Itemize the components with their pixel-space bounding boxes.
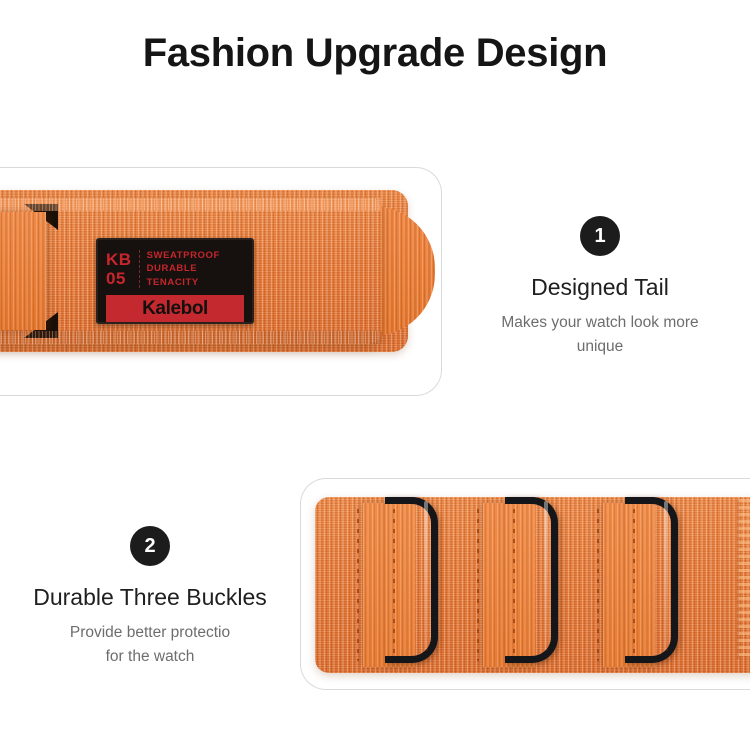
stitch-line-5 (597, 509, 599, 661)
strap-edge-highlight-top (0, 198, 382, 211)
strap-side-seam (737, 499, 750, 659)
label-claims: SWEATPROOF DURABLE TENACITY (140, 249, 220, 290)
brand-label-tag: KB 05 SWEATPROOF DURABLE TENACITY Kalebo… (96, 238, 254, 324)
feature-number-badge-1: 1 (580, 216, 620, 256)
label-claim-tenacity: TENACITY (147, 276, 220, 290)
label-top-row: KB 05 SWEATPROOF DURABLE TENACITY (106, 247, 244, 291)
feature-block-three-buckles: 2 Durable Three Buckles Provide better p… (5, 526, 295, 669)
label-code-line2: 05 (106, 269, 132, 288)
feature-description-2-line2: for the watch (5, 645, 295, 669)
label-model-code: KB 05 (106, 250, 140, 288)
feature-description-1: Makes your watch look more unique (455, 311, 745, 359)
page-title: Fashion Upgrade Design (0, 27, 750, 79)
metal-buckle-3 (625, 497, 678, 663)
stitch-line-1 (357, 509, 359, 661)
product-photo-card-designed-tail: KB 05 SWEATPROOF DURABLE TENACITY Kalebo… (0, 167, 442, 396)
label-claim-durable: DURABLE (147, 262, 220, 276)
feature-description-2: Provide better protectio for the watch (5, 621, 295, 669)
feature-number-badge-2: 2 (130, 526, 170, 566)
feature-description-2-line1: Provide better protectio (5, 621, 295, 645)
label-brand-band: Kalebol (106, 295, 244, 322)
strap-edge-shadow-bottom (0, 331, 382, 344)
feature-title-2: Durable Three Buckles (5, 583, 295, 612)
feature-description-1-line1: Makes your watch look more (455, 311, 745, 335)
label-code-line1: KB (106, 250, 132, 269)
feature-description-1-line2: unique (455, 335, 745, 359)
product-photo-card-three-buckles (300, 478, 750, 690)
label-claim-sweatproof: SWEATPROOF (147, 249, 220, 263)
stitch-line-3 (477, 509, 479, 661)
metal-buckle-1 (385, 497, 438, 663)
metal-buckle-2 (505, 497, 558, 663)
strap-keeper-loop (0, 212, 46, 330)
brand-name: Kalebol (142, 298, 208, 320)
feature-title-1: Designed Tail (455, 273, 745, 302)
feature-block-designed-tail: 1 Designed Tail Makes your watch look mo… (455, 216, 745, 359)
